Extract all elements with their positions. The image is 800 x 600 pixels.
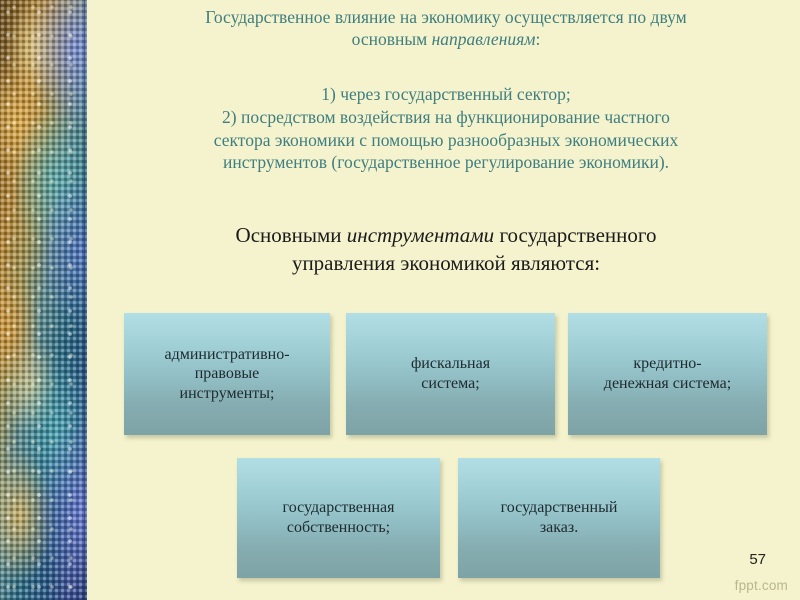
box-line-2: собственность; xyxy=(283,518,395,538)
box-line-1: государственная xyxy=(283,498,395,518)
slide: Государственное влияние на экономику осу… xyxy=(0,0,800,600)
intro-emphasis: направлениям xyxy=(432,29,536,49)
box-line-1: фискальная xyxy=(411,354,490,374)
heading-emphasis: инструментами xyxy=(347,223,494,247)
box-line-2: система; xyxy=(411,374,490,394)
box-text: фискальная система; xyxy=(411,354,490,393)
box-credit-monetary-system: кредитно- денежная система; xyxy=(568,313,767,435)
heading-line-2: управления экономикой являются: xyxy=(115,250,777,278)
box-line-2: заказ. xyxy=(501,518,618,538)
box-line-2: денежная система; xyxy=(604,374,731,394)
watermark-fppt: fppt.com xyxy=(735,578,788,593)
list-item-2-line-2: сектора экономики с помощью разнообразны… xyxy=(107,129,785,152)
intro-line-2-after: : xyxy=(535,29,540,49)
box-line-1: государственный xyxy=(501,498,618,518)
decorative-mosaic-strip xyxy=(0,0,87,600)
box-text: государственная собственность; xyxy=(283,498,395,537)
list-item-2-line-3: инструментов (государственное регулирова… xyxy=(107,151,785,174)
box-line-2: правовые xyxy=(164,364,289,384)
intro-line-1: Государственное влияние на экономику осу… xyxy=(107,6,785,28)
heading-line-1-after: государственного xyxy=(494,223,656,247)
numbered-list: 1) через государственный сектор; 2) поср… xyxy=(107,83,785,174)
box-state-order: государственный заказ. xyxy=(458,458,660,578)
section-heading: Основными инструментами государственного… xyxy=(115,222,777,278)
list-item-1: 1) через государственный сектор; xyxy=(107,83,785,106)
heading-line-1-before: Основными xyxy=(236,223,347,247)
slide-content: Государственное влияние на экономику осу… xyxy=(87,0,800,600)
box-administrative-legal-instruments: административно- правовые инструменты; xyxy=(124,313,330,435)
page-number: 57 xyxy=(749,551,766,568)
box-state-property: государственная собственность; xyxy=(237,458,440,578)
intro-line-2-before: основным xyxy=(352,29,432,49)
intro-line-2: основным направлениям: xyxy=(107,28,785,50)
heading-line-1: Основными инструментами государственного xyxy=(115,222,777,250)
box-line-1: кредитно- xyxy=(604,354,731,374)
box-text: административно- правовые инструменты; xyxy=(164,345,289,404)
box-text: государственный заказ. xyxy=(501,498,618,537)
box-line-3: инструменты; xyxy=(164,384,289,404)
box-line-1: административно- xyxy=(164,345,289,365)
list-item-2-line-1: 2) посредством воздействия на функционир… xyxy=(107,106,785,129)
box-fiscal-system: фискальная система; xyxy=(346,313,555,435)
mosaic-warm-dots xyxy=(0,0,87,600)
box-text: кредитно- денежная система; xyxy=(604,354,731,393)
intro-paragraph: Государственное влияние на экономику осу… xyxy=(107,6,785,51)
